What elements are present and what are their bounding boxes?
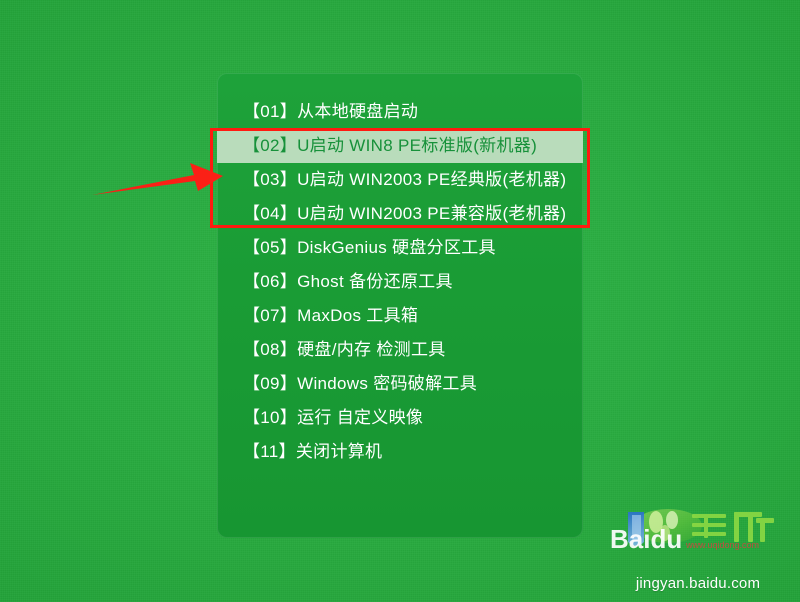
menu-item-07[interactable]: 【07】MaxDos 工具箱 <box>217 299 583 333</box>
menu-item-label: 【05】DiskGenius 硬盘分区工具 <box>243 238 496 257</box>
menu-item-label: 【11】关闭计算机 <box>243 442 382 461</box>
watermark-url: jingyan.baidu.com <box>608 575 788 592</box>
baidu-jingyan-logo-icon: Baidu www.uqidong.com <box>608 506 788 564</box>
watermark: Baidu www.uqidong.com jingyan.baidu.com <box>608 506 788 594</box>
menu-item-label: 【06】Ghost 备份还原工具 <box>243 272 453 291</box>
menu-item-label: 【10】运行 自定义映像 <box>243 408 423 427</box>
boot-menu-panel: 【01】从本地硬盘启动 【02】U启动 WIN8 PE标准版(新机器) 【03】… <box>217 73 583 538</box>
menu-item-06[interactable]: 【06】Ghost 备份还原工具 <box>217 265 583 299</box>
menu-item-label: 【09】Windows 密码破解工具 <box>243 374 477 393</box>
menu-item-01[interactable]: 【01】从本地硬盘启动 <box>217 95 583 129</box>
menu-item-05[interactable]: 【05】DiskGenius 硬盘分区工具 <box>217 231 583 265</box>
menu-item-02[interactable]: 【02】U启动 WIN8 PE标准版(新机器) <box>217 129 583 163</box>
menu-item-label: 【02】U启动 WIN8 PE标准版(新机器) <box>243 136 537 155</box>
menu-item-11[interactable]: 【11】关闭计算机 <box>217 435 583 469</box>
menu-item-09[interactable]: 【09】Windows 密码破解工具 <box>217 367 583 401</box>
red-arrow-icon <box>90 155 225 210</box>
menu-item-04[interactable]: 【04】U启动 WIN2003 PE兼容版(老机器) <box>217 197 583 231</box>
menu-item-label: 【08】硬盘/内存 检测工具 <box>243 340 446 359</box>
menu-item-label: 【01】从本地硬盘启动 <box>243 102 418 121</box>
svg-text:Baidu: Baidu <box>610 524 682 554</box>
menu-item-08[interactable]: 【08】硬盘/内存 检测工具 <box>217 333 583 367</box>
menu-item-label: 【04】U启动 WIN2003 PE兼容版(老机器) <box>243 204 566 223</box>
menu-item-label: 【07】MaxDos 工具箱 <box>243 306 418 325</box>
menu-item-03[interactable]: 【03】U启动 WIN2003 PE经典版(老机器) <box>217 163 583 197</box>
menu-item-label: 【03】U启动 WIN2003 PE经典版(老机器) <box>243 170 566 189</box>
menu-item-10[interactable]: 【10】运行 自定义映像 <box>217 401 583 435</box>
boot-menu-list: 【01】从本地硬盘启动 【02】U启动 WIN8 PE标准版(新机器) 【03】… <box>217 95 583 469</box>
boot-menu-screen: 【01】从本地硬盘启动 【02】U启动 WIN8 PE标准版(新机器) 【03】… <box>0 0 800 602</box>
svg-text:www.uqidong.com: www.uqidong.com <box>685 540 759 550</box>
